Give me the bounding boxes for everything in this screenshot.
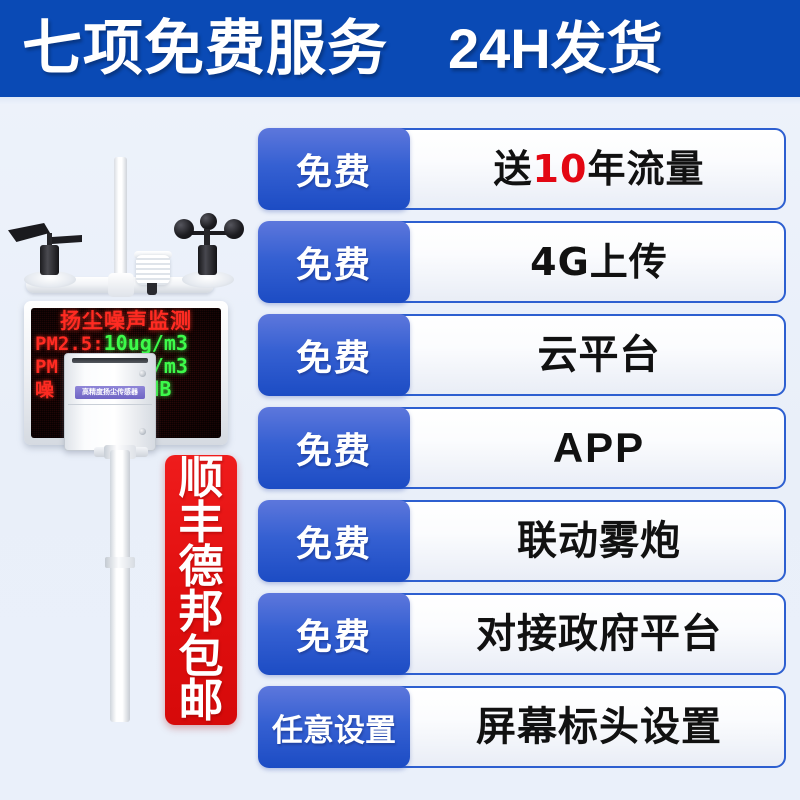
feature-badge-label: 免费 xyxy=(296,422,372,474)
feature-label-app: APP xyxy=(553,427,645,469)
feature-badge: 免费 xyxy=(258,128,410,210)
mast-collar-lower xyxy=(105,557,135,568)
anemometer-cup xyxy=(224,219,244,239)
screw-icon xyxy=(139,428,146,435)
sensor-box-label: 高精度扬尘传感器 xyxy=(75,386,145,399)
led-value-pm25: 10ug/m3 xyxy=(104,333,188,354)
enclosure-vent xyxy=(72,358,148,363)
shipping-banner-char: 德 xyxy=(178,545,223,590)
wind-vane-base xyxy=(40,245,59,275)
feature-badge-label: 任意设置 xyxy=(272,705,396,750)
anemometer-base xyxy=(198,245,217,275)
feature-badge: 免费 xyxy=(258,221,410,303)
header-subtitle: 24H发货 xyxy=(448,21,663,77)
led-title: 扬尘噪声监测 xyxy=(35,311,217,332)
feature-pill: 送10年流量 xyxy=(372,128,786,210)
feature-badge: 免费 xyxy=(258,593,410,675)
anemometer-cup xyxy=(174,219,194,239)
feature-row[interactable]: 免费 联动雾炮 xyxy=(258,500,786,582)
feature-pill: 4G上传 xyxy=(372,221,786,303)
enclosure-seam xyxy=(68,404,152,405)
mast-upper xyxy=(114,157,127,287)
feature-pill: 联动雾炮 xyxy=(372,500,786,582)
feature-list: 免费 送10年流量 免费 4G上传 免费 云平台 免费 xyxy=(258,128,786,779)
shipping-banner-char: 邦 xyxy=(178,590,223,635)
feature-label-4g-upload: 4G上传 xyxy=(530,243,668,281)
wind-vane-tail xyxy=(52,235,82,244)
feature-label-gov-platform: 对接政府平台 xyxy=(476,614,722,654)
feature-label-fog-cannon: 联动雾炮 xyxy=(517,521,681,561)
shipping-banner-char: 丰 xyxy=(178,501,223,546)
feature-label-cloud-platform: 云平台 xyxy=(538,335,661,375)
feature-pill: 屏幕标头设置 xyxy=(372,686,786,768)
feature-badge: 免费 xyxy=(258,314,410,396)
radiation-shield-icon xyxy=(136,255,170,285)
feature-badge-label: 免费 xyxy=(296,329,372,381)
header-banner: 七项免费服务 24H发货 xyxy=(0,0,800,97)
feature-pill: 对接政府平台 xyxy=(372,593,786,675)
shipping-banner-char: 顺 xyxy=(178,456,223,501)
feature-row[interactable]: 免费 对接政府平台 xyxy=(258,593,786,675)
screw-icon xyxy=(139,370,146,377)
wind-vane-icon xyxy=(8,223,50,242)
feature-row[interactable]: 免费 云平台 xyxy=(258,314,786,396)
feature-badge-label: 免费 xyxy=(296,515,372,567)
anemometer-cup xyxy=(200,213,217,230)
feature-pill: APP xyxy=(372,407,786,489)
feature-badge-label: 免费 xyxy=(296,143,372,195)
feature-badge: 免费 xyxy=(258,500,410,582)
feature-row[interactable]: 免费 送10年流量 xyxy=(258,128,786,210)
feature-row[interactable]: 任意设置 屏幕标头设置 xyxy=(258,686,786,768)
header-underline xyxy=(0,97,800,105)
feature-pill: 云平台 xyxy=(372,314,786,396)
mast-lower xyxy=(110,450,130,722)
crossbar-joint xyxy=(108,273,134,297)
feature-badge-label: 免费 xyxy=(296,236,372,288)
led-row-pm25: PM2.5: 10ug/m3 xyxy=(35,333,217,355)
header-title: 七项免费服务 xyxy=(22,19,388,79)
shipping-banner-char: 包 xyxy=(178,635,223,680)
feature-row[interactable]: 免费 APP xyxy=(258,407,786,489)
dust-sensor-enclosure: 高精度扬尘传感器 xyxy=(64,353,156,451)
feature-badge-label: 免费 xyxy=(296,608,372,660)
feature-badge: 任意设置 xyxy=(258,686,410,768)
feature-row[interactable]: 免费 4G上传 xyxy=(258,221,786,303)
shipping-banner-char: 邮 xyxy=(178,679,223,724)
feature-label-screen-header: 屏幕标头设置 xyxy=(476,707,722,747)
promo-page: 七项免费服务 24H发货 扬尘噪声监测 PM2.5 xyxy=(0,0,800,800)
feature-label-data-plan: 送10年流量 xyxy=(494,150,705,188)
feature-badge: 免费 xyxy=(258,407,410,489)
shield-probe xyxy=(147,283,157,295)
shipping-banner: 顺 丰 德 邦 包 邮 xyxy=(165,455,237,725)
